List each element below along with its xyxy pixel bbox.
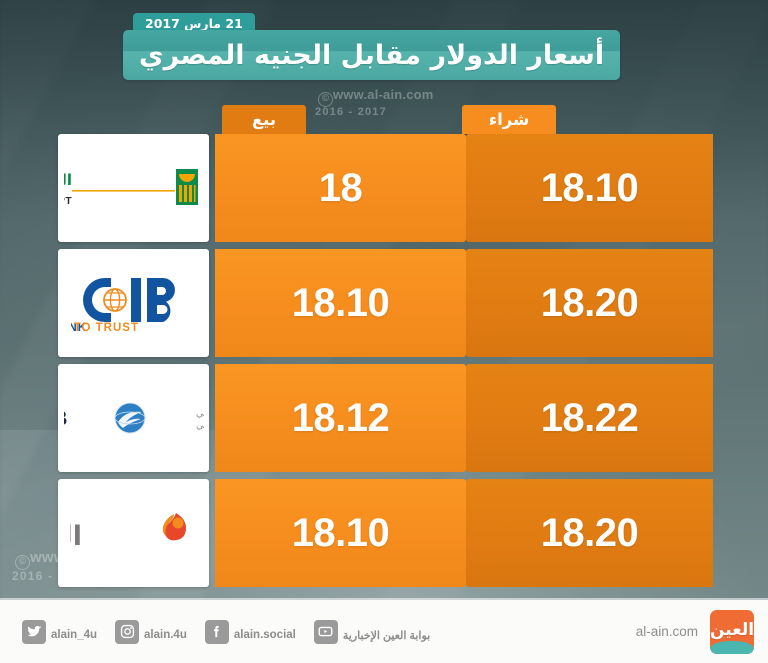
bank-logo-card-cib: A BANK TO TRUST (58, 249, 209, 357)
buy-rate-cell: 18.10 (215, 479, 466, 587)
buy-rate-value: 18.12 (292, 396, 390, 441)
brand-logo-text: العين (710, 622, 754, 639)
nbe-logo: البنك الأهلي المصري NATIONAL BANK OF EGY… (64, 155, 204, 221)
buy-rate-value: 18 (319, 166, 363, 211)
social-label-instagram: alain.4u (144, 630, 187, 644)
footer-brand-area: al-ain.com العين (636, 610, 754, 654)
facebook-icon[interactable] (205, 620, 229, 644)
adib-logo: ADIB مصرف أبوظبي الإسلامي (64, 396, 204, 440)
sell-rate-value: 18.10 (541, 166, 639, 211)
table-row: 18.20 18.10 البركة (58, 479, 713, 587)
svg-text:NATIONAL BANK OF EGYPT: NATIONAL BANK OF EGYPT (64, 196, 72, 207)
column-header-sell: بيع (222, 105, 306, 134)
date-label: 21 مارس 2017 (145, 16, 243, 31)
social-links-list: alain_4u alain.4u alain.social (22, 620, 430, 644)
social-label-facebook: alain.social (234, 630, 296, 644)
al-ain-brand-logo[interactable]: العين (710, 610, 754, 654)
site-url[interactable]: al-ain.com (636, 624, 698, 639)
sell-rate-cell: 18.20 (466, 249, 713, 357)
sell-rate-value: 18.22 (541, 396, 639, 441)
bank-logo-card-nbe: البنك الأهلي المصري NATIONAL BANK OF EGY… (58, 134, 209, 242)
social-link-youtube[interactable]: بوابة العين الإخبارية (314, 620, 430, 644)
watermark-site: www.al-ain.com (30, 549, 146, 566)
page-title: أسعار الدولار مقابل الجنيه المصري (139, 40, 604, 71)
copyright-icon: © (15, 555, 30, 570)
svg-text:البركة: البركة (70, 521, 82, 552)
buy-rate-value: 18.10 (292, 281, 390, 326)
table-row: 18.10 18 البنك الأهلي المصري NATIONAL BA… (58, 134, 713, 242)
footer: alain_4u alain.4u alain.social (0, 600, 768, 663)
twitter-icon[interactable] (22, 620, 46, 644)
social-label-youtube: بوابة العين الإخبارية (343, 631, 430, 644)
social-label-twitter: alain_4u (51, 630, 97, 644)
buy-rate-value: 18.10 (292, 511, 390, 556)
sell-rate-cell: 18.10 (466, 134, 713, 242)
column-header-sell-label: بيع (252, 110, 276, 129)
title-banner: أسعار الدولار مقابل الجنيه المصري (123, 30, 620, 80)
watermark-bottom-left: ©www.al-ain.com 2016 - 2017 (12, 550, 146, 583)
instagram-icon[interactable] (115, 620, 139, 644)
social-link-twitter[interactable]: alain_4u (22, 620, 97, 644)
watermark-center: ©www.al-ain.com 2016 - 2017 (315, 88, 434, 119)
copyright-icon: © (318, 92, 333, 107)
sell-rate-value: 18.20 (541, 511, 639, 556)
social-link-facebook[interactable]: alain.social (205, 620, 296, 644)
brand-wave-shape (710, 641, 754, 654)
buy-rate-cell: 18.12 (215, 364, 466, 472)
buy-rate-cell: 18.10 (215, 249, 466, 357)
sell-rate-value: 18.20 (541, 281, 639, 326)
watermark-years: 2016 - 2017 (12, 570, 146, 583)
watermark-years: 2016 - 2017 (315, 107, 434, 119)
svg-text:البنك الأهلي المصري: البنك الأهلي المصري (64, 171, 72, 190)
cib-tagline-b: TO TRUST (73, 322, 138, 334)
infographic-canvas: ©www.al-ain.com 2016 - 2017 21 مارس 2017… (0, 0, 768, 663)
buy-rate-cell: 18 (215, 134, 466, 242)
svg-text:مصرف أبوظبي: مصرف أبوظبي (196, 406, 204, 419)
watermark-site: www.al-ain.com (333, 87, 434, 102)
rates-table: 18.10 18 البنك الأهلي المصري NATIONAL BA… (58, 134, 713, 594)
bank-logo-card-adib: ADIB مصرف أبوظبي الإسلامي (58, 364, 209, 472)
youtube-icon[interactable] (314, 620, 338, 644)
table-row: 18.20 18.10 (58, 249, 713, 357)
column-header-buy-label: شراء (489, 110, 530, 129)
social-link-instagram[interactable]: alain.4u (115, 620, 187, 644)
table-row: 18.22 18.12 ADIB مصرف أبوظبي الإسلامي (58, 364, 713, 472)
column-header-buy: شراء (462, 105, 556, 134)
sell-rate-cell: 18.20 (466, 479, 713, 587)
svg-text:الإسلامي: الإسلامي (196, 420, 204, 431)
svg-text:ADIB: ADIB (64, 408, 68, 430)
sell-rate-cell: 18.22 (466, 364, 713, 472)
cib-logo: A BANK TO TRUST (71, 272, 197, 334)
